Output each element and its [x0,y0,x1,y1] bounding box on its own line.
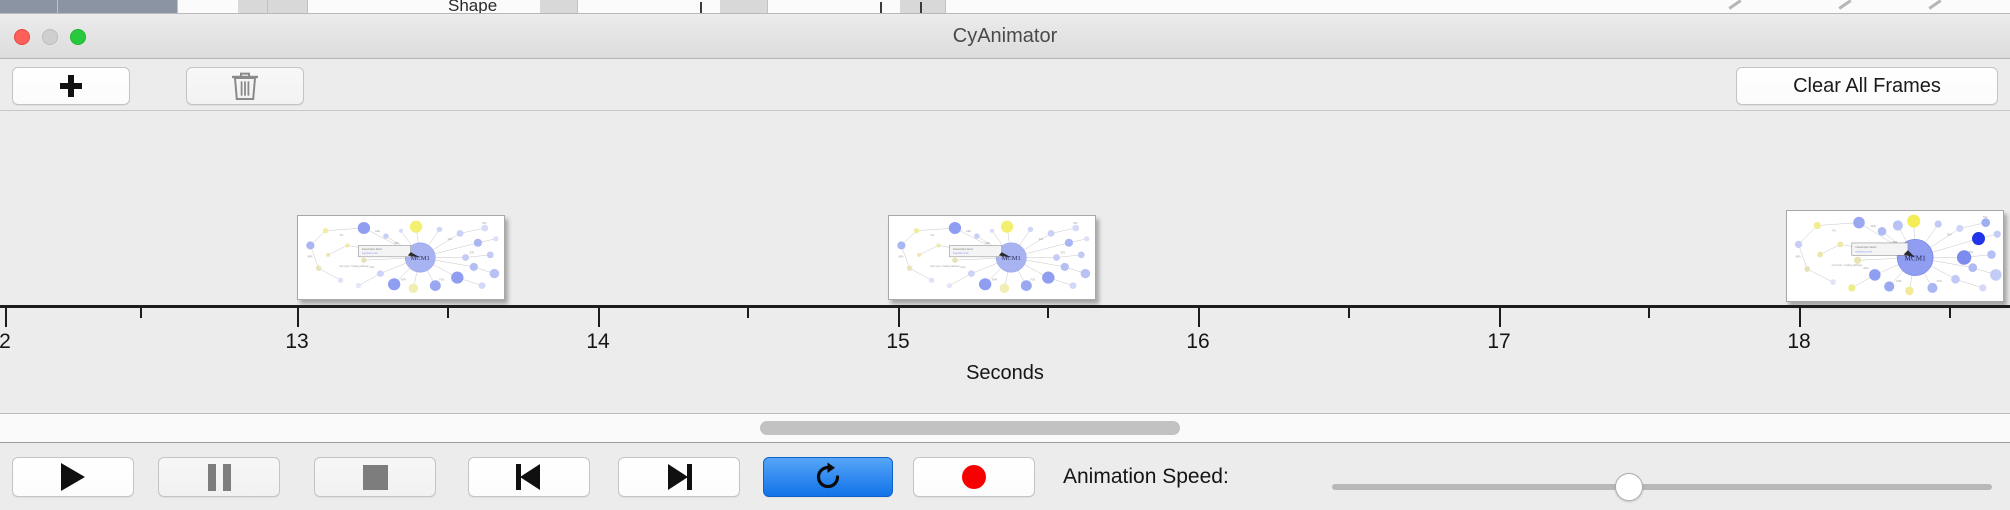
svg-text:STE: STE [470,252,475,254]
background-mark [920,2,922,14]
title-bar: CyAnimator [0,14,2010,59]
timeline-tick-label: 16 [1186,330,1209,354]
svg-text:FUS: FUS [1937,280,1942,283]
svg-text:transcription factor: transcription factor [953,248,973,251]
svg-text:cell cycle / mating pathway: cell cycle / mating pathway [339,265,369,268]
loop-icon [813,462,843,492]
timeline-tick-major [5,308,7,327]
svg-text:MCM1: MCM1 [1905,254,1927,262]
plus-icon [60,75,82,97]
keyframe-thumbnail[interactable]: YFLGEN ORFSWI STEFUS KARAGA MFATEC trans… [888,215,1096,300]
timeline-tick-minor [1348,308,1350,318]
skip-next-icon [666,464,692,490]
background-tab [900,0,946,14]
play-button[interactable] [12,457,134,497]
timeline-tick-label: 15 [886,330,909,354]
background-decoration [1928,0,1941,10]
timeline-tick-major [598,308,600,327]
svg-text:STE: STE [1061,252,1066,254]
add-frame-button[interactable] [12,67,130,105]
skip-next-button[interactable] [618,457,740,497]
background-tab [238,0,268,14]
timeline-tick-minor [747,308,749,318]
animation-speed-slider[interactable] [1332,484,1992,490]
svg-text:YFL: YFL [930,235,935,237]
timeline-tick-minor [1648,308,1650,318]
loop-button[interactable] [763,457,893,497]
pause-button[interactable] [158,457,280,497]
timeline-scrollbar[interactable] [0,414,2010,443]
network-thumbnail-graphic: YFLGEN ORFSWI STEFUS KARAGA MFATEC trans… [889,216,1095,299]
timeline-axis [0,305,2010,308]
background-tab [268,0,308,14]
svg-text:FUS: FUS [1030,279,1035,281]
pause-icon [208,464,231,491]
svg-text:KAR: KAR [401,278,406,281]
play-icon [61,463,85,491]
svg-text:AGA: AGA [1863,267,1868,270]
svg-text:regulatory hub: regulatory hub [953,252,969,255]
background-decoration [1838,0,1851,10]
background-mark [700,2,702,14]
background-window-strip: Shape [0,0,2010,14]
timeline-tick-major [1799,308,1801,327]
svg-text:regulatory hub: regulatory hub [362,252,378,255]
timeline-tick-minor [140,308,142,318]
timeline-tick-minor [447,308,449,318]
svg-text:YFL: YFL [1832,229,1837,232]
network-thumbnail-graphic: YFLGEN ORFSWI STEFUS KARAGA MFATEC trans… [1787,211,2003,301]
svg-text:MCM1: MCM1 [1002,255,1021,262]
background-window-label: Shape [448,0,497,14]
transport-bar: Animation Speed: [0,443,2010,510]
timeline-tick-label: 14 [586,330,609,354]
axis-caption: Seconds [0,362,2010,385]
svg-text:FUS: FUS [439,279,444,281]
record-button[interactable] [913,457,1035,497]
timeline-tick-major [1198,308,1200,327]
svg-text:ORF: ORF [394,243,400,245]
svg-text:regulatory hub: regulatory hub [1855,249,1872,253]
timeline-tick-label: 13 [285,330,308,354]
stop-icon [363,465,388,490]
timeline-tick-major [297,308,299,327]
svg-text:GEN: GEN [375,231,380,233]
svg-text:MFA: MFA [1796,255,1801,258]
stop-button[interactable] [314,457,436,497]
svg-text:MFA: MFA [308,256,313,259]
background-tab [540,0,578,14]
timeline-panel[interactable]: YFLGEN ORFSWI STEFUS KARAGA MFATEC trans… [0,111,2010,414]
network-thumbnail-graphic: YFLGEN ORFSWI STEFUS KARAGA MFATEC trans… [298,216,504,299]
scrollbar-thumb[interactable] [760,421,1180,435]
record-icon [962,465,986,489]
svg-text:TEC: TEC [482,223,487,225]
svg-text:SWI: SWI [448,239,453,241]
keyframe-thumbnail[interactable]: YFLGEN ORFSWI STEFUS KARAGA MFATEC trans… [1786,210,2004,302]
delete-frame-button[interactable] [186,67,304,105]
timeline-tick-label: 2 [0,330,11,354]
timeline-tick-label: 18 [1787,330,1810,354]
background-tab [58,0,178,14]
svg-text:KAR: KAR [992,278,997,281]
svg-text:transcription factor: transcription factor [1855,245,1876,249]
animation-speed-slider-thumb[interactable] [1615,473,1643,501]
svg-text:SWI: SWI [1039,239,1044,241]
clear-all-frames-button[interactable]: Clear All Frames [1736,67,1998,105]
frame-toolbar: Clear All Frames [0,59,2010,111]
svg-text:transcription factor: transcription factor [362,248,382,251]
timeline-tick-major [898,308,900,327]
timeline-tick-minor [1047,308,1049,318]
svg-text:MFA: MFA [899,256,904,259]
timeline-tick-minor [1949,308,1951,318]
skip-previous-button[interactable] [468,457,590,497]
svg-text:GEN: GEN [1871,225,1876,228]
animation-speed-label: Animation Speed: [1063,465,1229,489]
trash-icon [232,71,258,101]
timeline-tick-label: 17 [1487,330,1510,354]
svg-text:TEC: TEC [1073,223,1078,225]
svg-text:MCM1: MCM1 [411,255,430,262]
background-decoration [1728,0,1741,10]
svg-text:cell cycle / mating pathway: cell cycle / mating pathway [1832,263,1863,267]
svg-text:AGA: AGA [369,266,374,269]
svg-text:SWI: SWI [1947,234,1952,237]
window-title: CyAnimator [0,14,2010,59]
skip-previous-icon [516,464,542,490]
background-tab [720,0,768,14]
svg-text:STE: STE [1968,251,1973,254]
svg-text:cell cycle / mating pathway: cell cycle / mating pathway [930,265,960,268]
cyanimator-window: Shape CyAnimator Clear All Frames [0,0,2010,510]
svg-text:KAR: KAR [1896,280,1901,283]
background-mark [880,2,882,14]
svg-text:TEC: TEC [1983,216,1988,219]
background-tab [0,0,58,14]
svg-text:AGA: AGA [960,266,965,269]
timeline-tick-major [1499,308,1501,327]
svg-text:GEN: GEN [966,231,971,233]
svg-text:YFL: YFL [339,235,344,237]
svg-text:ORF: ORF [985,243,991,245]
keyframe-thumbnail[interactable]: YFLGEN ORFSWI STEFUS KARAGA MFATEC trans… [297,215,505,300]
